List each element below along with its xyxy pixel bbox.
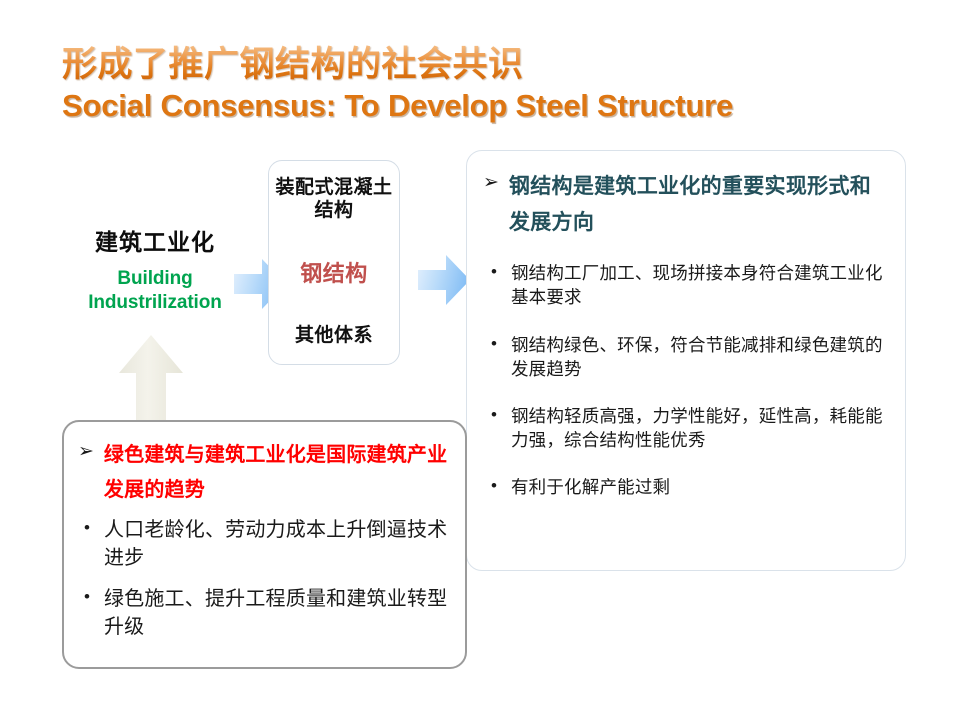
bullet-dot-icon: •	[491, 261, 497, 284]
list-item: • 钢结构轻质高强，力学性能好，延性高，耗能能力强，综合结构性能优秀	[477, 404, 889, 452]
list-item: • 钢结构绿色、环保，符合节能减排和绿色建筑的发展趋势	[477, 333, 889, 381]
left-label-group: 建筑工业化 Building Industrilization	[60, 228, 250, 314]
page-title-english: Social Consensus: To Develop Steel Struc…	[62, 87, 902, 124]
right-panel-heading-row: ➢ 钢结构是建筑工业化的重要实现形式和发展方向	[477, 169, 889, 241]
arrowhead-bullet-icon: ➢	[483, 169, 499, 197]
slide-canvas: 形成了推广钢结构的社会共识 Social Consensus: To Devel…	[0, 0, 960, 720]
left-label-chinese: 建筑工业化	[60, 228, 250, 257]
bottom-panel-bullet-text: 人口老龄化、劳动力成本上升倒逼技术进步	[104, 516, 453, 573]
right-panel-heading: 钢结构是建筑工业化的重要实现形式和发展方向	[509, 169, 889, 241]
up-arrow-icon	[118, 333, 184, 429]
construction-systems-box: 装配式混凝土结构 钢结构 其他体系	[268, 160, 400, 365]
bullet-dot-icon: •	[84, 516, 90, 540]
slide-title-block: 形成了推广钢结构的社会共识 Social Consensus: To Devel…	[62, 44, 902, 124]
left-label-english: Building Industrilization	[60, 267, 250, 315]
list-item: • 绿色施工、提升工程质量和建筑业转型升级	[72, 585, 453, 642]
list-item: • 钢结构工厂加工、现场拼接本身符合建筑工业化基本要求	[477, 261, 889, 309]
green-building-trend-panel: ➢ 绿色建筑与建筑工业化是国际建筑产业发展的趋势 • 人口老龄化、劳动力成本上升…	[62, 420, 467, 669]
system-item-other: 其他体系	[295, 325, 373, 348]
arrowhead-bullet-icon: ➢	[78, 438, 94, 467]
right-panel-bullet-text: 钢结构轻质高强，力学性能好，延性高，耗能能力强，综合结构性能优秀	[511, 404, 889, 452]
bullet-dot-icon: •	[84, 585, 90, 609]
right-panel-bullet-text: 钢结构工厂加工、现场拼接本身符合建筑工业化基本要求	[511, 261, 889, 309]
bullet-dot-icon: •	[491, 333, 497, 356]
bullet-dot-icon: •	[491, 404, 497, 427]
list-item: • 人口老龄化、劳动力成本上升倒逼技术进步	[72, 516, 453, 573]
steel-structure-benefits-panel: ➢ 钢结构是建筑工业化的重要实现形式和发展方向 • 钢结构工厂加工、现场拼接本身…	[466, 150, 906, 571]
bottom-panel-heading-row: ➢ 绿色建筑与建筑工业化是国际建筑产业发展的趋势	[72, 438, 453, 508]
system-item-steel-structure: 钢结构	[300, 261, 368, 287]
bottom-panel-heading: 绿色建筑与建筑工业化是国际建筑产业发展的趋势	[104, 438, 453, 508]
system-item-precast-concrete: 装配式混凝土结构	[275, 177, 393, 223]
list-item: • 有利于化解产能过剩	[477, 475, 889, 499]
right-panel-bullet-text: 有利于化解产能过剩	[511, 475, 670, 499]
bottom-panel-bullet-text: 绿色施工、提升工程质量和建筑业转型升级	[104, 585, 453, 642]
right-arrow-icon	[416, 252, 472, 308]
bullet-dot-icon: •	[491, 475, 497, 498]
right-panel-bullet-text: 钢结构绿色、环保，符合节能减排和绿色建筑的发展趋势	[511, 333, 889, 381]
page-title-chinese: 形成了推广钢结构的社会共识	[62, 44, 902, 85]
